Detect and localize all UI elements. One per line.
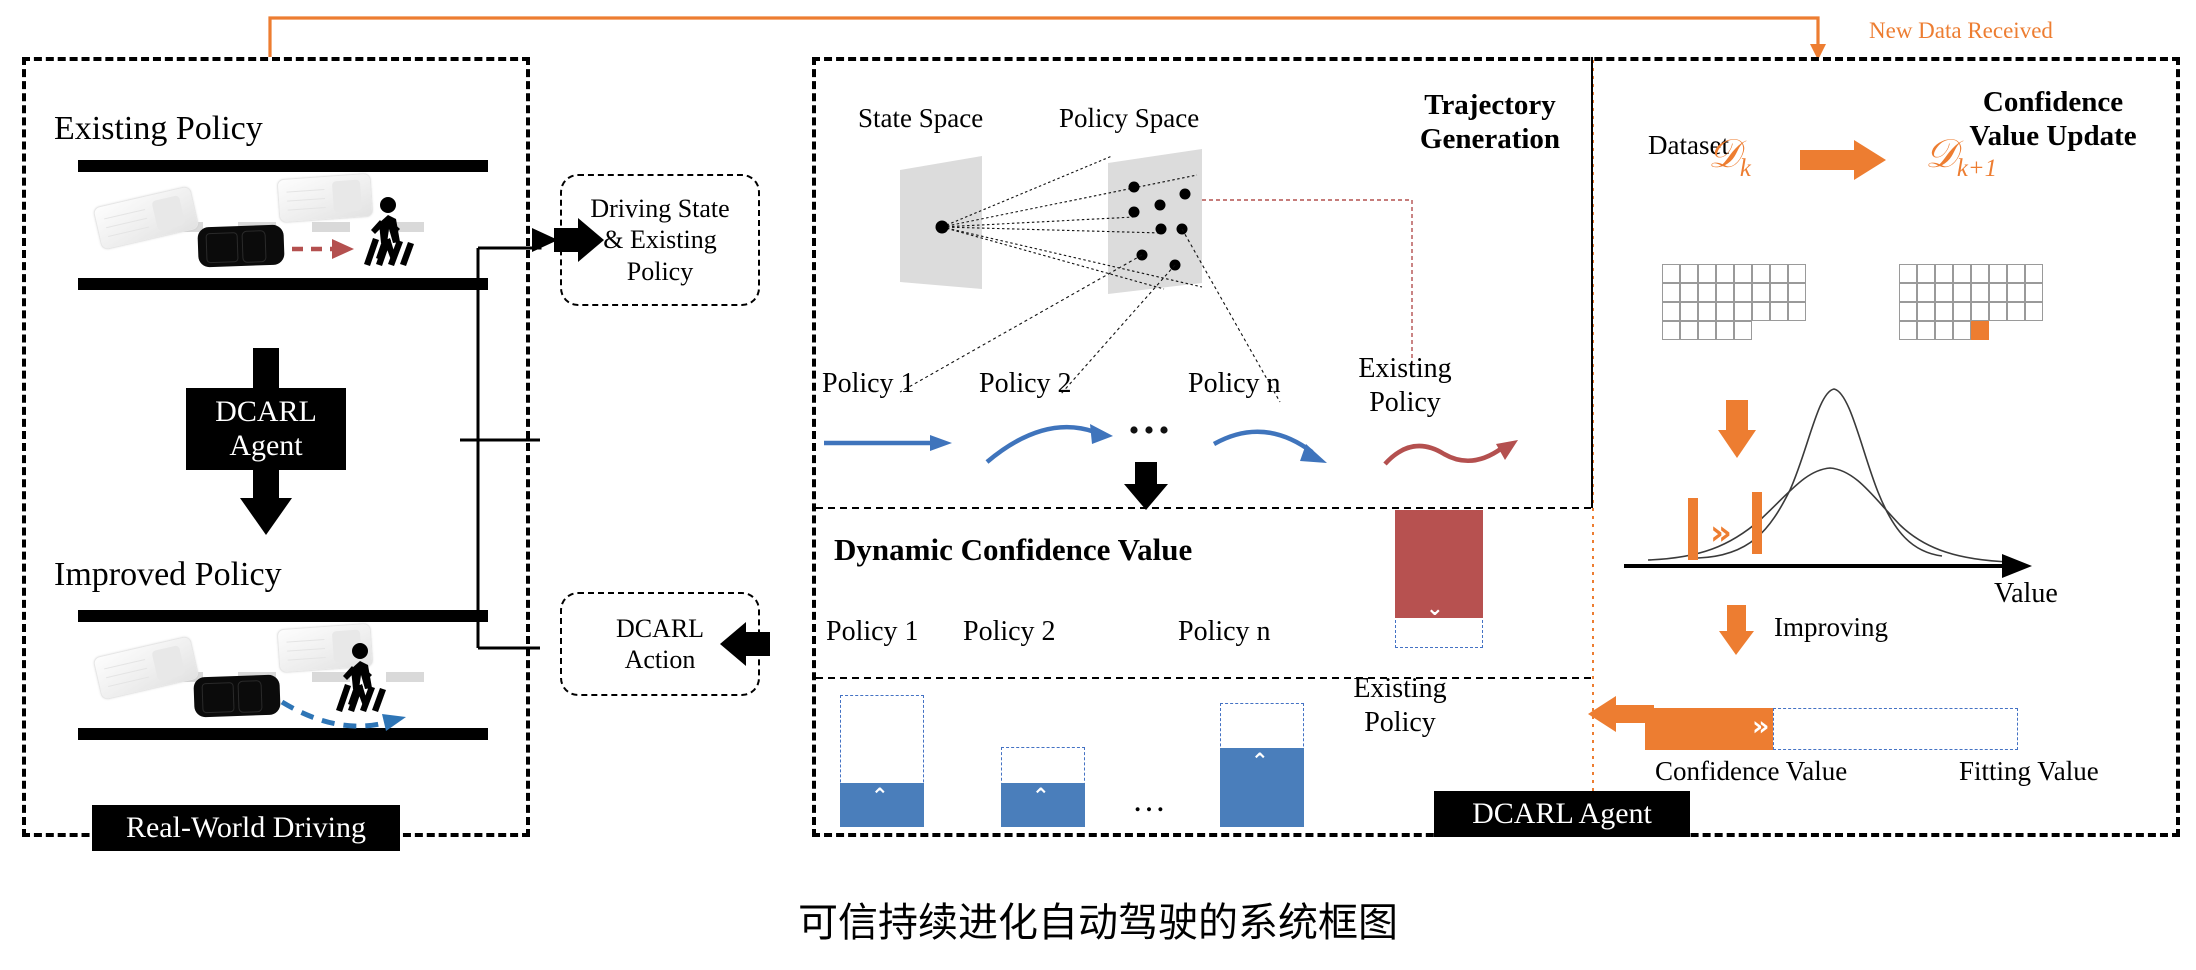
improved-policy-title: Improved Policy xyxy=(54,556,282,594)
pedestrian-icon-2 xyxy=(70,610,495,740)
improving-label: Improving xyxy=(1774,612,1888,643)
policy-n-bar-chevron: ⌃ xyxy=(1251,751,1269,772)
confidence-bars-ellipsis: … xyxy=(1132,782,1170,820)
driving-state-box[interactable]: Driving State & Existing Policy xyxy=(560,174,760,306)
dataset-k-subscript: k xyxy=(1740,155,1751,182)
distribution-axis-label: Value xyxy=(1994,578,2058,610)
improving-arrow xyxy=(1714,605,1774,665)
policy-2-bar-chevron: ⌃ xyxy=(1032,786,1050,807)
dcarl-action-box[interactable]: DCARL Action xyxy=(560,592,760,696)
driving-state-line1: Driving State xyxy=(590,193,729,224)
dataset-k-grid xyxy=(1662,264,1812,344)
confidence-policy-label-2: Policy 2 xyxy=(963,616,1056,648)
confidence-value-bar-chevron: » xyxy=(1752,713,1769,740)
dataset-k-letter: 𝒟 xyxy=(1708,131,1740,176)
dataset-k1-subscript: k+1 xyxy=(1957,155,1997,182)
confidence-value-label: Confidence Value xyxy=(1655,756,1847,787)
dataset-k1-grid xyxy=(1899,264,2049,344)
policy-label-1: Policy 1 xyxy=(822,368,915,400)
dynamic-confidence-heading: Dynamic Confidence Value xyxy=(834,532,1192,568)
policy-label-n: Policy n xyxy=(1188,368,1281,400)
fitting-value-bar-outline xyxy=(1773,708,2018,750)
dcarl-agent-line2: Agent xyxy=(229,429,302,463)
dataset-k1-letter: 𝒟 xyxy=(1925,131,1957,176)
cvu-heading-line1: Confidence xyxy=(1930,85,2176,119)
improved-policy-scene xyxy=(70,610,495,740)
existing-policy-bar-chevron: ⌄ xyxy=(1426,598,1444,619)
real-world-driving-chip: Real-World Driving xyxy=(92,805,400,851)
dcarl-agent-line1: DCARL xyxy=(215,395,317,429)
svg-text:»: » xyxy=(1710,513,1732,553)
pedestrian-icon xyxy=(70,160,495,290)
dataset-k-symbol: 𝒟k xyxy=(1708,130,1751,183)
dcarl-agent-chip-center[interactable]: DCARL Agent xyxy=(1434,791,1690,837)
dataset-k1-symbol: 𝒟k+1 xyxy=(1925,130,1997,183)
dcarl-agent-chip-left[interactable]: DCARL Agent xyxy=(186,388,346,470)
existing-policy-bottom-line2: Policy xyxy=(1325,706,1475,740)
driving-state-line3: Policy xyxy=(627,256,693,287)
fitting-value-label: Fitting Value xyxy=(1959,756,2099,787)
dcarl-action-line2: Action xyxy=(625,644,696,675)
new-data-received-label: New Data Received xyxy=(1869,18,2053,44)
policy-label-2: Policy 2 xyxy=(979,368,1072,400)
policy-1-bar-chevron: ⌃ xyxy=(871,786,889,807)
figure-caption: 可信持续进化自动驾驶的系统框图 xyxy=(0,890,2196,948)
dataset-transition-arrow xyxy=(1800,140,1910,186)
dcarl-action-line1: DCARL xyxy=(616,613,704,644)
existing-policy-top-line1: Existing xyxy=(1330,352,1480,386)
trajectory-arrows xyxy=(812,400,1592,520)
new-data-cell xyxy=(1971,321,1989,340)
driving-state-line2: & Existing xyxy=(603,224,716,255)
state-policy-space-diagram xyxy=(812,57,1592,397)
existing-policy-scene xyxy=(70,160,495,290)
confidence-distribution-chart: » xyxy=(1620,380,2196,580)
existing-policy-label-bottom: Existing Policy xyxy=(1325,672,1475,739)
existing-policy-title: Existing Policy xyxy=(54,110,263,148)
confidence-policy-label-n: Policy n xyxy=(1178,616,1271,648)
confidence-policy-label-1: Policy 1 xyxy=(826,616,919,648)
existing-policy-bottom-line1: Existing xyxy=(1325,672,1475,706)
